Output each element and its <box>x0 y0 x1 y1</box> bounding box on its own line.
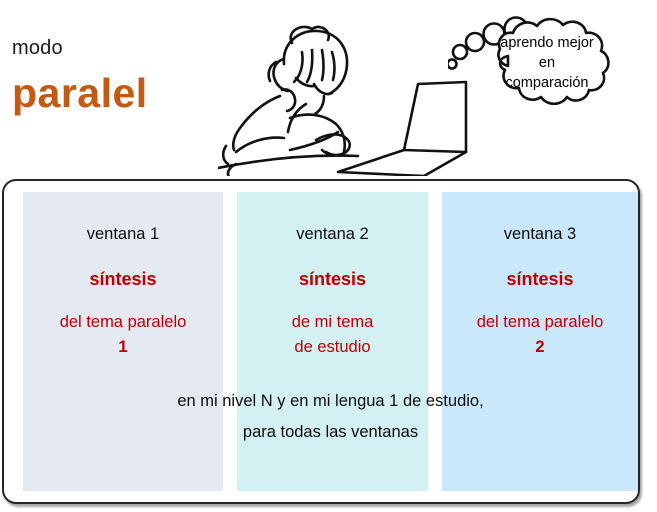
thought-bubble-line-3: comparación <box>505 75 588 91</box>
window-column-2-desc-line-1: de mi tema <box>292 313 374 331</box>
panel-footer-note: en mi nivel N y en mi lengua 1 de estudi… <box>23 386 638 448</box>
window-column-1-desc-line-1: del tema paralelo <box>60 313 187 331</box>
window-column-3-heading: ventana 3 <box>442 224 638 244</box>
header-area: modo paralel <box>0 0 657 180</box>
thought-bubble-text: aprendo mejor en comparación <box>462 33 632 93</box>
window-column-1-title: síntesis <box>23 268 223 290</box>
panel-footer-line-1: en mi nivel N y en mi lengua 1 de estudi… <box>23 386 638 417</box>
page-title-paralel: paralel <box>12 70 148 116</box>
window-column-2-title: síntesis <box>237 268 428 290</box>
window-column-2-description: de mi tema de estudio <box>237 310 428 360</box>
window-column-3-description: del tema paralelo 2 <box>442 310 638 360</box>
thought-bubble-line-1: aprendo mejor <box>500 35 594 51</box>
panel-footer-line-2: para todas las ventanas <box>23 417 638 448</box>
window-column-1-desc-line-2: 1 <box>118 338 127 356</box>
person-studying-at-laptop-illustration <box>218 0 468 176</box>
window-column-1-heading: ventana 1 <box>23 224 223 244</box>
thought-bubble-line-2: en <box>539 55 555 71</box>
window-column-3-desc-line-2: 2 <box>535 338 544 356</box>
window-column-2-heading: ventana 2 <box>237 224 428 244</box>
parallel-mode-panel: ventana 1 síntesis del tema paralelo 1 v… <box>2 179 640 504</box>
window-column-3-desc-line-1: del tema paralelo <box>477 313 604 331</box>
window-column-1-description: del tema paralelo 1 <box>23 310 223 360</box>
window-column-3-title: síntesis <box>442 268 638 290</box>
window-column-2-desc-line-2: de estudio <box>294 338 370 356</box>
page-title-modo: modo <box>12 37 63 59</box>
